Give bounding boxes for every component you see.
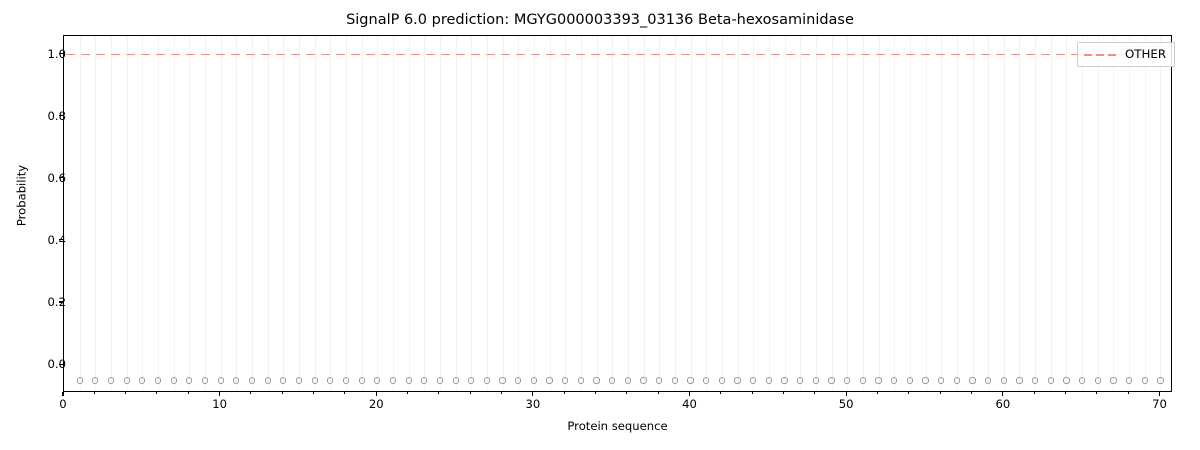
other-probability-dash (576, 54, 585, 56)
other-probability-dash (606, 54, 615, 56)
other-probability-dash (1041, 54, 1050, 56)
x-axis-tick (1002, 392, 1003, 396)
other-probability-dash (756, 54, 765, 56)
residue-marker (969, 377, 975, 383)
residue-marker (1079, 377, 1085, 383)
other-probability-dash (276, 54, 285, 56)
residue-marker (907, 377, 913, 383)
other-probability-dash (471, 54, 480, 56)
x-axis-minor-tick (407, 392, 408, 394)
legend-item-label: OTHER (1125, 48, 1166, 61)
x-axis-minor-tick (783, 392, 784, 394)
other-probability-dash (531, 54, 540, 56)
residue-marker (499, 377, 505, 383)
residue-marker (265, 377, 271, 383)
other-probability-dash (726, 54, 735, 56)
x-axis-minor-tick (313, 392, 314, 394)
other-probability-dash (216, 54, 225, 56)
residue-marker (280, 377, 286, 383)
x-axis-minor-tick (877, 392, 878, 394)
residue-marker (672, 377, 678, 383)
x-axis-minor-tick (595, 392, 596, 394)
page-title: SignalP 6.0 prediction: MGYG000003393_03… (0, 11, 1200, 29)
x-axis-minor-tick (1096, 392, 1097, 394)
other-probability-dash (306, 54, 315, 56)
other-probability-dash (396, 54, 405, 56)
y-axis-label: Probability (16, 116, 29, 276)
other-probability-dash (711, 54, 720, 56)
x-axis-minor-tick (564, 392, 565, 394)
x-axis-minor-tick (470, 392, 471, 394)
x-axis-minor-tick (438, 392, 439, 394)
residue-marker (171, 377, 177, 383)
x-axis-tick-label: 30 (526, 398, 541, 411)
residue-marker (1048, 377, 1054, 383)
x-axis-minor-tick (125, 392, 126, 394)
other-probability-dash (816, 54, 825, 56)
signalp-prediction-figure: SignalP 6.0 prediction: MGYG000003393_03… (0, 0, 1200, 450)
residue-marker (922, 377, 928, 383)
y-axis-tick-label: 0.0 (48, 358, 66, 370)
other-probability-dash (636, 54, 645, 56)
residue-marker (609, 377, 615, 383)
residue-marker (296, 377, 302, 383)
x-axis-minor-tick (814, 392, 815, 394)
other-probability-dash (996, 54, 1005, 56)
other-probability-dash (441, 54, 450, 56)
other-probability-dash (831, 54, 840, 56)
other-probability-dash (1056, 54, 1065, 56)
other-probability-dash (171, 54, 180, 56)
y-axis-tick-label: 0.8 (48, 110, 66, 122)
other-probability-dash (1026, 54, 1035, 56)
x-axis-tick-label: 50 (839, 398, 854, 411)
residue-marker (218, 377, 224, 383)
residue-marker (1126, 377, 1132, 383)
plot-area: MTTGFPGPLMLDVEGFELDAEEREILRHPLVGGLILFARN… (63, 35, 1172, 392)
other-probability-dash (411, 54, 420, 56)
other-probability-dash (231, 54, 240, 56)
other-probability-dash (201, 54, 210, 56)
residue-marker (374, 377, 380, 383)
other-probability-dash (261, 54, 270, 56)
residue-marker (1063, 377, 1069, 383)
y-axis-tick-label: 0.2 (48, 296, 66, 308)
residue-marker (734, 377, 740, 383)
y-axis-tick-label: 0.4 (48, 234, 66, 246)
other-probability-dash (336, 54, 345, 56)
residue-marker (453, 377, 459, 383)
residue-marker (750, 377, 756, 383)
x-axis-minor-tick (156, 392, 157, 394)
other-probability-dash (291, 54, 300, 56)
residue-marker (656, 377, 662, 383)
other-probability-dash (876, 54, 885, 56)
residue-marker (1032, 377, 1038, 383)
x-axis-minor-tick (1034, 392, 1035, 394)
other-probability-dash (126, 54, 135, 56)
residue-marker (954, 377, 960, 383)
other-probability-dash (966, 54, 975, 56)
other-probability-dash (366, 54, 375, 56)
residue-marker (343, 377, 349, 383)
residue-marker (938, 377, 944, 383)
x-axis-tick-label: 60 (995, 398, 1010, 411)
residue-marker (1142, 377, 1148, 383)
residue-marker (1095, 377, 1101, 383)
other-probability-dash (381, 54, 390, 56)
residue-marker (406, 377, 412, 383)
x-axis-tick (532, 392, 533, 396)
other-probability-dash (111, 54, 120, 56)
other-probability-dash (681, 54, 690, 56)
other-probability-dash (786, 54, 795, 56)
residue-marker (186, 377, 192, 383)
other-probability-dash (1011, 54, 1020, 56)
x-axis-tick (376, 392, 377, 396)
residue-marker (108, 377, 114, 383)
other-probability-dash (936, 54, 945, 56)
other-probability-dash (501, 54, 510, 56)
x-axis-label: Protein sequence (63, 420, 1172, 433)
x-axis-tick (219, 392, 220, 396)
x-axis-tick (846, 392, 847, 396)
other-probability-dash (951, 54, 960, 56)
residue-marker (124, 377, 130, 383)
residue-marker (249, 377, 255, 383)
residue-marker (484, 377, 490, 383)
residue-marker (359, 377, 365, 383)
other-probability-dash (981, 54, 990, 56)
residue-marker (1001, 377, 1007, 383)
x-axis-minor-tick (1065, 392, 1066, 394)
residue-marker (327, 377, 333, 383)
other-probability-dash (351, 54, 360, 56)
residue-marker (139, 377, 145, 383)
residue-marker (468, 377, 474, 383)
x-axis-minor-tick (1128, 392, 1129, 394)
residue-marker (875, 377, 881, 383)
residue-marker (625, 377, 631, 383)
x-axis-tick-label: 70 (1152, 398, 1167, 411)
other-probability-dash (621, 54, 630, 56)
residue-marker (828, 377, 834, 383)
legend-dashed-line-icon (1084, 54, 1120, 56)
x-axis-minor-tick (188, 392, 189, 394)
other-probability-dash (426, 54, 435, 56)
x-axis-tick-label: 20 (369, 398, 384, 411)
x-axis-minor-tick (971, 392, 972, 394)
other-probability-dash (891, 54, 900, 56)
residue-marker (546, 377, 552, 383)
other-probability-dash (666, 54, 675, 56)
residue-marker (593, 377, 599, 383)
residue-marker (515, 377, 521, 383)
residue-marker (312, 377, 318, 383)
x-axis-tick-label: 40 (682, 398, 697, 411)
residue-marker (766, 377, 772, 383)
x-axis-minor-tick (94, 392, 95, 394)
other-probability-dash (156, 54, 165, 56)
other-probability-dash (651, 54, 660, 56)
residue-marker (985, 377, 991, 383)
other-probability-dash (81, 54, 90, 56)
series-other: MTTGFPGPLMLDVEGFELDAEEREILRHPLVGGLILFARN… (64, 36, 1171, 391)
other-probability-dash (696, 54, 705, 56)
residue-marker (1110, 377, 1116, 383)
x-axis-minor-tick (250, 392, 251, 394)
residue-marker (562, 377, 568, 383)
residue-marker (813, 377, 819, 383)
other-probability-dash (321, 54, 330, 56)
other-probability-dash (141, 54, 150, 56)
x-axis-minor-tick (501, 392, 502, 394)
other-probability-dash (516, 54, 525, 56)
x-axis-tick (689, 392, 690, 396)
other-probability-dash (591, 54, 600, 56)
residue-marker (1157, 377, 1163, 383)
residue-marker (1016, 377, 1022, 383)
other-probability-dash (921, 54, 930, 56)
residue-marker (92, 377, 98, 383)
other-probability-dash (546, 54, 555, 56)
x-axis-tick (62, 392, 63, 396)
other-probability-dash (771, 54, 780, 56)
x-axis-minor-tick (720, 392, 721, 394)
residue-marker (781, 377, 787, 383)
residue-marker (155, 377, 161, 383)
residue-marker (891, 377, 897, 383)
x-axis-minor-tick (908, 392, 909, 394)
other-probability-dash (846, 54, 855, 56)
other-probability-dash (861, 54, 870, 56)
other-probability-dash (741, 54, 750, 56)
residue-marker (703, 377, 709, 383)
y-axis-tick-label: 0.6 (48, 172, 66, 184)
x-axis-minor-tick (282, 392, 283, 394)
residue-marker (687, 377, 693, 383)
x-axis-tick-label: 0 (59, 398, 66, 411)
other-probability-dash (906, 54, 915, 56)
residue-marker (640, 377, 646, 383)
legend: OTHER (1077, 42, 1175, 67)
residue-marker (77, 377, 83, 383)
residue-marker (202, 377, 208, 383)
other-probability-dash (801, 54, 810, 56)
x-axis-minor-tick (752, 392, 753, 394)
residue-marker (390, 377, 396, 383)
other-probability-dash (456, 54, 465, 56)
x-axis-tick (1159, 392, 1160, 396)
residue-marker (233, 377, 239, 383)
other-probability-dash (66, 54, 75, 56)
other-probability-dash (561, 54, 570, 56)
x-axis-minor-tick (626, 392, 627, 394)
residue-marker (437, 377, 443, 383)
residue-marker (797, 377, 803, 383)
x-axis-minor-tick (658, 392, 659, 394)
residue-marker (578, 377, 584, 383)
residue-marker (719, 377, 725, 383)
other-probability-dash (186, 54, 195, 56)
residue-marker (860, 377, 866, 383)
residue-marker (421, 377, 427, 383)
x-axis-minor-tick (344, 392, 345, 394)
residue-marker (844, 377, 850, 383)
other-probability-dash (96, 54, 105, 56)
residue-marker (531, 377, 537, 383)
other-probability-dash (246, 54, 255, 56)
x-axis-minor-tick (940, 392, 941, 394)
other-probability-dash (486, 54, 495, 56)
x-axis-tick-label: 10 (212, 398, 227, 411)
y-axis-tick-label: 1.0 (48, 48, 66, 60)
